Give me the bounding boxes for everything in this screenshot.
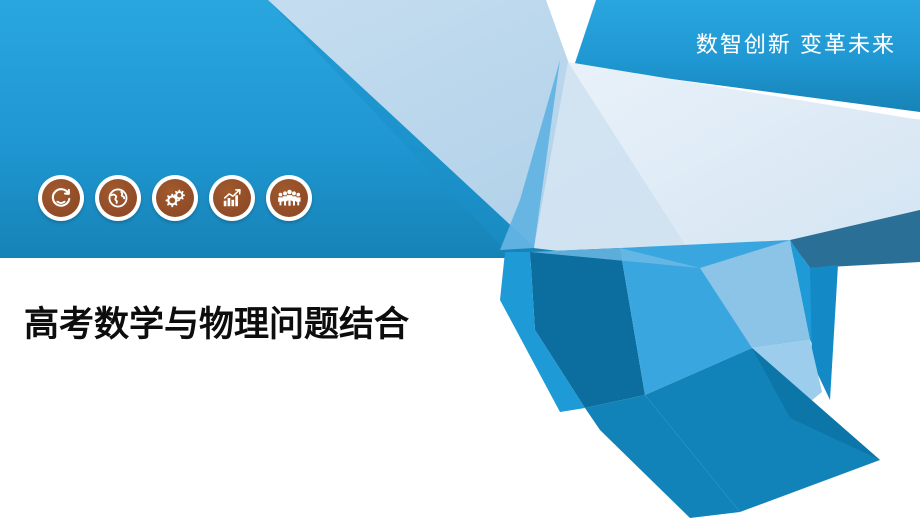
page-title: 高考数学与物理问题结合 (24, 296, 409, 347)
icon-badge-globe[interactable] (95, 175, 141, 221)
icon-row (38, 175, 312, 221)
icon-badge-people-group[interactable] (266, 175, 312, 221)
icon-badge-refresh[interactable] (38, 175, 84, 221)
icon-badge-gears[interactable] (152, 175, 198, 221)
globe-icon (99, 179, 137, 217)
people-group-icon (270, 179, 308, 217)
background-polygon-artwork (0, 0, 920, 518)
bar-chart-icon (213, 179, 251, 217)
icon-badge-bar-chart[interactable] (209, 175, 255, 221)
tagline: 数智创新 变革未来 (696, 27, 896, 59)
gears-icon (156, 179, 194, 217)
title-slide: 数智创新 变革未来 (0, 0, 920, 518)
refresh-arrow-icon (42, 179, 80, 217)
